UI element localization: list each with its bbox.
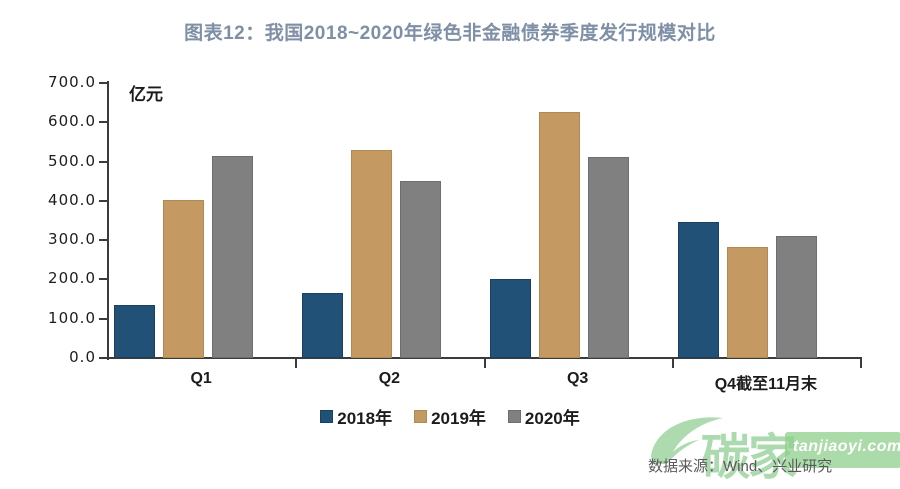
bar-2020年-Q2: [400, 181, 441, 358]
bar-2020年-Q1: [212, 156, 253, 358]
page-title: 图表12：我国2018~2020年绿色非金融债券季度发行规模对比: [0, 18, 900, 45]
y-axis-tick-label: 300.0: [6, 230, 96, 248]
legend-label: 2019年: [431, 404, 486, 429]
bar-2018年-Q4截至11月末: [678, 222, 719, 358]
legend-item-2018年[interactable]: 2018年: [320, 404, 392, 429]
y-axis-tick: [99, 200, 108, 202]
y-axis-tick-label: 0.0: [6, 348, 96, 366]
x-axis-category-label: Q4截至11月末: [672, 370, 860, 394]
x-axis-tick: [860, 359, 862, 368]
y-axis-tick: [99, 161, 108, 163]
legend-swatch-icon: [414, 410, 427, 423]
legend-item-2019年[interactable]: 2019年: [414, 404, 486, 429]
y-axis-tick: [99, 121, 108, 123]
chart-legend: 2018年2019年2020年: [0, 404, 900, 429]
bar-2018年-Q2: [302, 293, 343, 358]
y-axis-tick: [99, 278, 108, 280]
y-axis-tick-label: 600.0: [6, 112, 96, 130]
y-axis-tick-label: 400.0: [6, 191, 96, 209]
bar-2019年-Q3: [539, 112, 580, 358]
x-axis-tick: [484, 359, 486, 368]
x-axis-category-label: Q2: [295, 370, 483, 388]
bar-2020年-Q3: [588, 157, 629, 358]
y-axis-tick: [99, 239, 108, 241]
y-axis-tick: [99, 318, 108, 320]
x-axis-tick: [295, 359, 297, 368]
legend-item-2020年[interactable]: 2020年: [508, 404, 580, 429]
bar-2019年-Q1: [163, 200, 204, 358]
y-axis-tick: [99, 357, 108, 359]
y-axis-tick-label: 200.0: [6, 269, 96, 287]
y-axis-tick-label: 500.0: [6, 152, 96, 170]
x-axis-category-label: Q1: [107, 370, 295, 388]
legend-label: 2020年: [525, 404, 580, 429]
bar-2020年-Q4截至11月末: [776, 236, 817, 358]
legend-swatch-icon: [508, 410, 521, 423]
plot-area: [107, 83, 860, 358]
watermark-domain: tanjiaoyi.com: [793, 438, 900, 456]
y-axis-tick: [99, 82, 108, 84]
x-axis-tick: [672, 359, 674, 368]
bar-2019年-Q2: [351, 150, 392, 358]
y-axis-tick-label: 700.0: [6, 73, 96, 91]
y-axis-tick-label: 100.0: [6, 309, 96, 327]
bar-2018年-Q3: [490, 279, 531, 358]
legend-label: 2018年: [337, 404, 392, 429]
legend-swatch-icon: [320, 410, 333, 423]
source-note: 数据来源：Wind、兴业研究: [648, 455, 832, 476]
x-axis-category-label: Q3: [484, 370, 672, 388]
bar-2018年-Q1: [114, 305, 155, 358]
bar-2019年-Q4截至11月末: [727, 247, 768, 358]
